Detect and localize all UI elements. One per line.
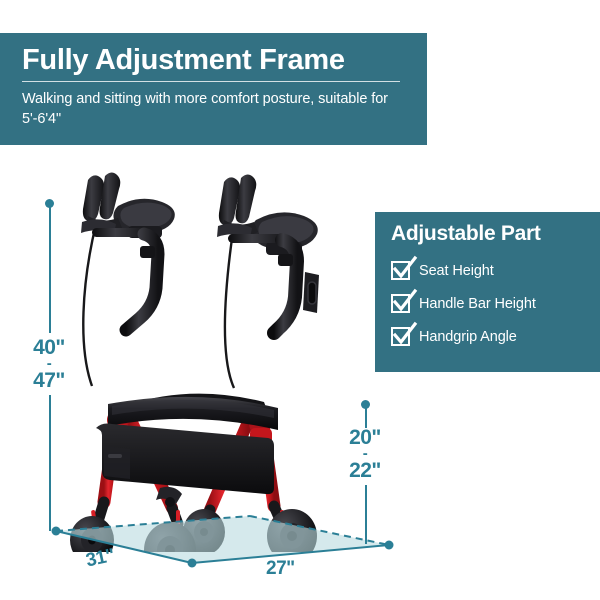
- infographic-canvas: Fully Adjustment Frame Walking and sitti…: [0, 0, 600, 600]
- handle-height-label: 40" - 47": [18, 337, 80, 391]
- ground-corner-dot-right: [385, 541, 394, 550]
- adjustable-part-panel: Adjustable Part Seat Height Handle Bar H…: [375, 212, 600, 372]
- header-subtitle: Walking and sitting with more comfort po…: [22, 89, 409, 129]
- header-banner: Fully Adjustment Frame Walking and sitti…: [0, 33, 427, 145]
- seat-height-max: 22": [349, 459, 381, 482]
- depth-label: 31": [84, 545, 117, 572]
- handle-height-line-lower: [49, 395, 51, 531]
- adjustable-item-handle-bar-height[interactable]: Handle Bar Height: [391, 287, 600, 320]
- adjustable-item-label: Handgrip Angle: [419, 329, 517, 345]
- adjustable-item-handgrip-angle[interactable]: Handgrip Angle: [391, 320, 600, 353]
- adjustable-item-label: Seat Height: [419, 263, 494, 279]
- width-label: 27": [266, 558, 295, 580]
- adjustable-item-label: Handle Bar Height: [419, 296, 536, 312]
- checkbox-checked-icon[interactable]: [391, 327, 410, 346]
- seat-height-line-upper: [365, 406, 367, 428]
- adjustable-item-seat-height[interactable]: Seat Height: [391, 254, 600, 287]
- checkbox-checked-icon[interactable]: [391, 261, 410, 280]
- page-title: Fully Adjustment Frame: [22, 43, 409, 77]
- ground-corner-dot-front: [188, 559, 197, 568]
- header-divider: [22, 81, 400, 82]
- checkbox-checked-icon[interactable]: [391, 294, 410, 313]
- adjustable-part-title: Adjustable Part: [391, 221, 600, 247]
- seat-height-line-lower: [365, 485, 367, 544]
- seat-height-label: 20" - 22": [334, 427, 396, 481]
- rollator-walker-illustration: [52, 172, 372, 552]
- handle-height-max: 47": [33, 369, 65, 392]
- handle-height-line-upper: [49, 205, 51, 333]
